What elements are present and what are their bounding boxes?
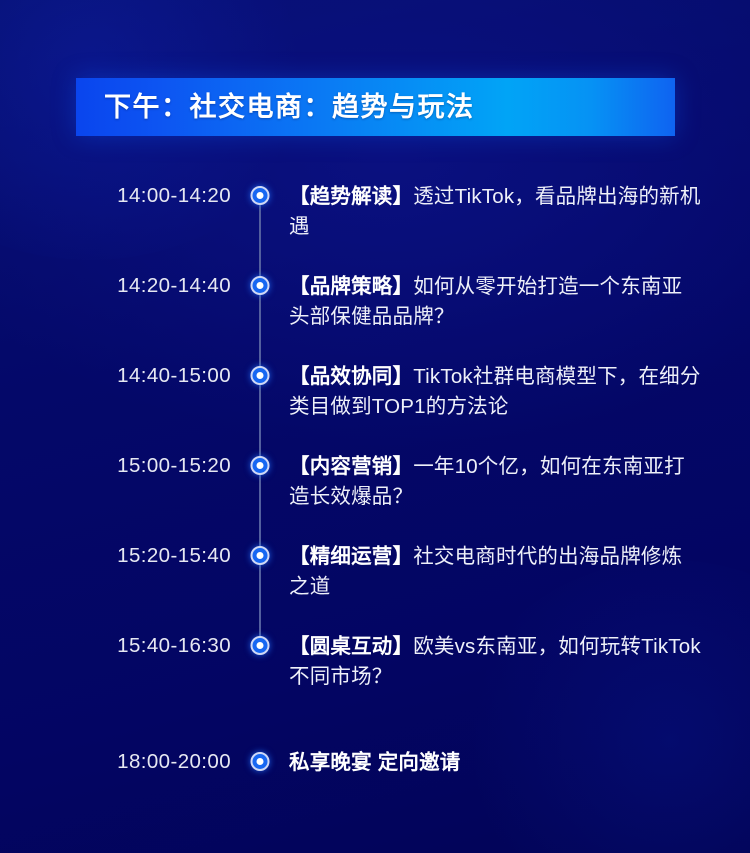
timeline-marker-column [231,362,289,452]
section-header-banner: 下午：社交电商：趋势与玩法 [76,78,675,136]
agenda-item-text: 【圆桌互动】欧美vs东南亚，如何玩转TikTok不同市场？ [289,632,750,692]
agenda-item-text: 【精细运营】社交电商时代的出海品牌修炼之道 [289,542,750,602]
agenda-item-text: 【内容营销】一年10个亿，如何在东南亚打造长效爆品？ [289,452,750,512]
timeline-bullet-icon [251,276,270,295]
agenda-item-tag: 【圆桌互动】 [289,635,413,658]
timeline-bullet-icon [251,456,270,475]
section-title: 下午：社交电商：趋势与玩法 [104,94,475,121]
agenda-item-time: 15:00-15:20 [76,452,231,479]
agenda-item-tag: 【精细运营】 [289,545,413,568]
agenda-item-time: 15:40-16:30 [76,632,231,659]
agenda-item[interactable]: 15:00-15:20 【内容营销】一年10个亿，如何在东南亚打造长效爆品？ [0,452,750,542]
agenda-item-tag: 【趋势解读】 [289,185,413,208]
agenda-item-time: 14:40-15:00 [76,362,231,389]
agenda-item-tag: 【品效协同】 [289,365,413,388]
agenda-timeline: 14:00-14:20 【趋势解读】透过TikTok，看品牌出海的新机遇 14:… [0,182,750,808]
timeline-bullet-icon [251,366,270,385]
agenda-item-dinner[interactable]: 18:00-20:00 私享晚宴 定向邀请 [0,748,750,808]
agenda-item-time: 14:20-14:40 [76,272,231,299]
agenda-item[interactable]: 14:40-15:00 【品效协同】TikTok社群电商模型下，在细分类目做到T… [0,362,750,452]
timeline-bullet-icon [251,186,270,205]
agenda-item-tag: 【内容营销】 [289,455,413,478]
agenda-item-time: 15:20-15:40 [76,542,231,569]
agenda-item-text: 私享晚宴 定向邀请 [289,748,750,778]
agenda-item[interactable]: 15:40-16:30 【圆桌互动】欧美vs东南亚，如何玩转TikTok不同市场… [0,632,750,722]
timeline-bullet-icon [251,752,270,771]
agenda-item-text: 【品效协同】TikTok社群电商模型下，在细分类目做到TOP1的方法论 [289,362,750,422]
timeline-marker-column [231,182,289,272]
timeline-marker-column [231,748,289,808]
agenda-item-tag: 【品牌策略】 [289,275,413,298]
timeline-marker-column [231,542,289,632]
timeline-marker-column [231,272,289,362]
agenda-item[interactable]: 14:20-14:40 【品牌策略】如何从零开始打造一个东南亚头部保健品品牌？ [0,272,750,362]
agenda-item[interactable]: 14:00-14:20 【趋势解读】透过TikTok，看品牌出海的新机遇 [0,182,750,272]
agenda-item-time: 18:00-20:00 [76,748,231,775]
agenda-item-text: 【品牌策略】如何从零开始打造一个东南亚头部保健品品牌？ [289,272,750,332]
timeline-connector-line [259,196,261,274]
timeline-bullet-icon [251,546,270,565]
timeline-marker-column [231,632,289,722]
agenda-item-tag: 私享晚宴 定向邀请 [289,751,461,774]
timeline-bullet-icon [251,636,270,655]
agenda-item-time: 14:00-14:20 [76,182,231,209]
agenda-item-text: 【趋势解读】透过TikTok，看品牌出海的新机遇 [289,182,750,242]
agenda-item[interactable]: 15:20-15:40 【精细运营】社交电商时代的出海品牌修炼之道 [0,542,750,632]
agenda-poster: 下午：社交电商：趋势与玩法 14:00-14:20 【趋势解读】透过TikTok… [0,0,750,853]
timeline-marker-column [231,452,289,542]
